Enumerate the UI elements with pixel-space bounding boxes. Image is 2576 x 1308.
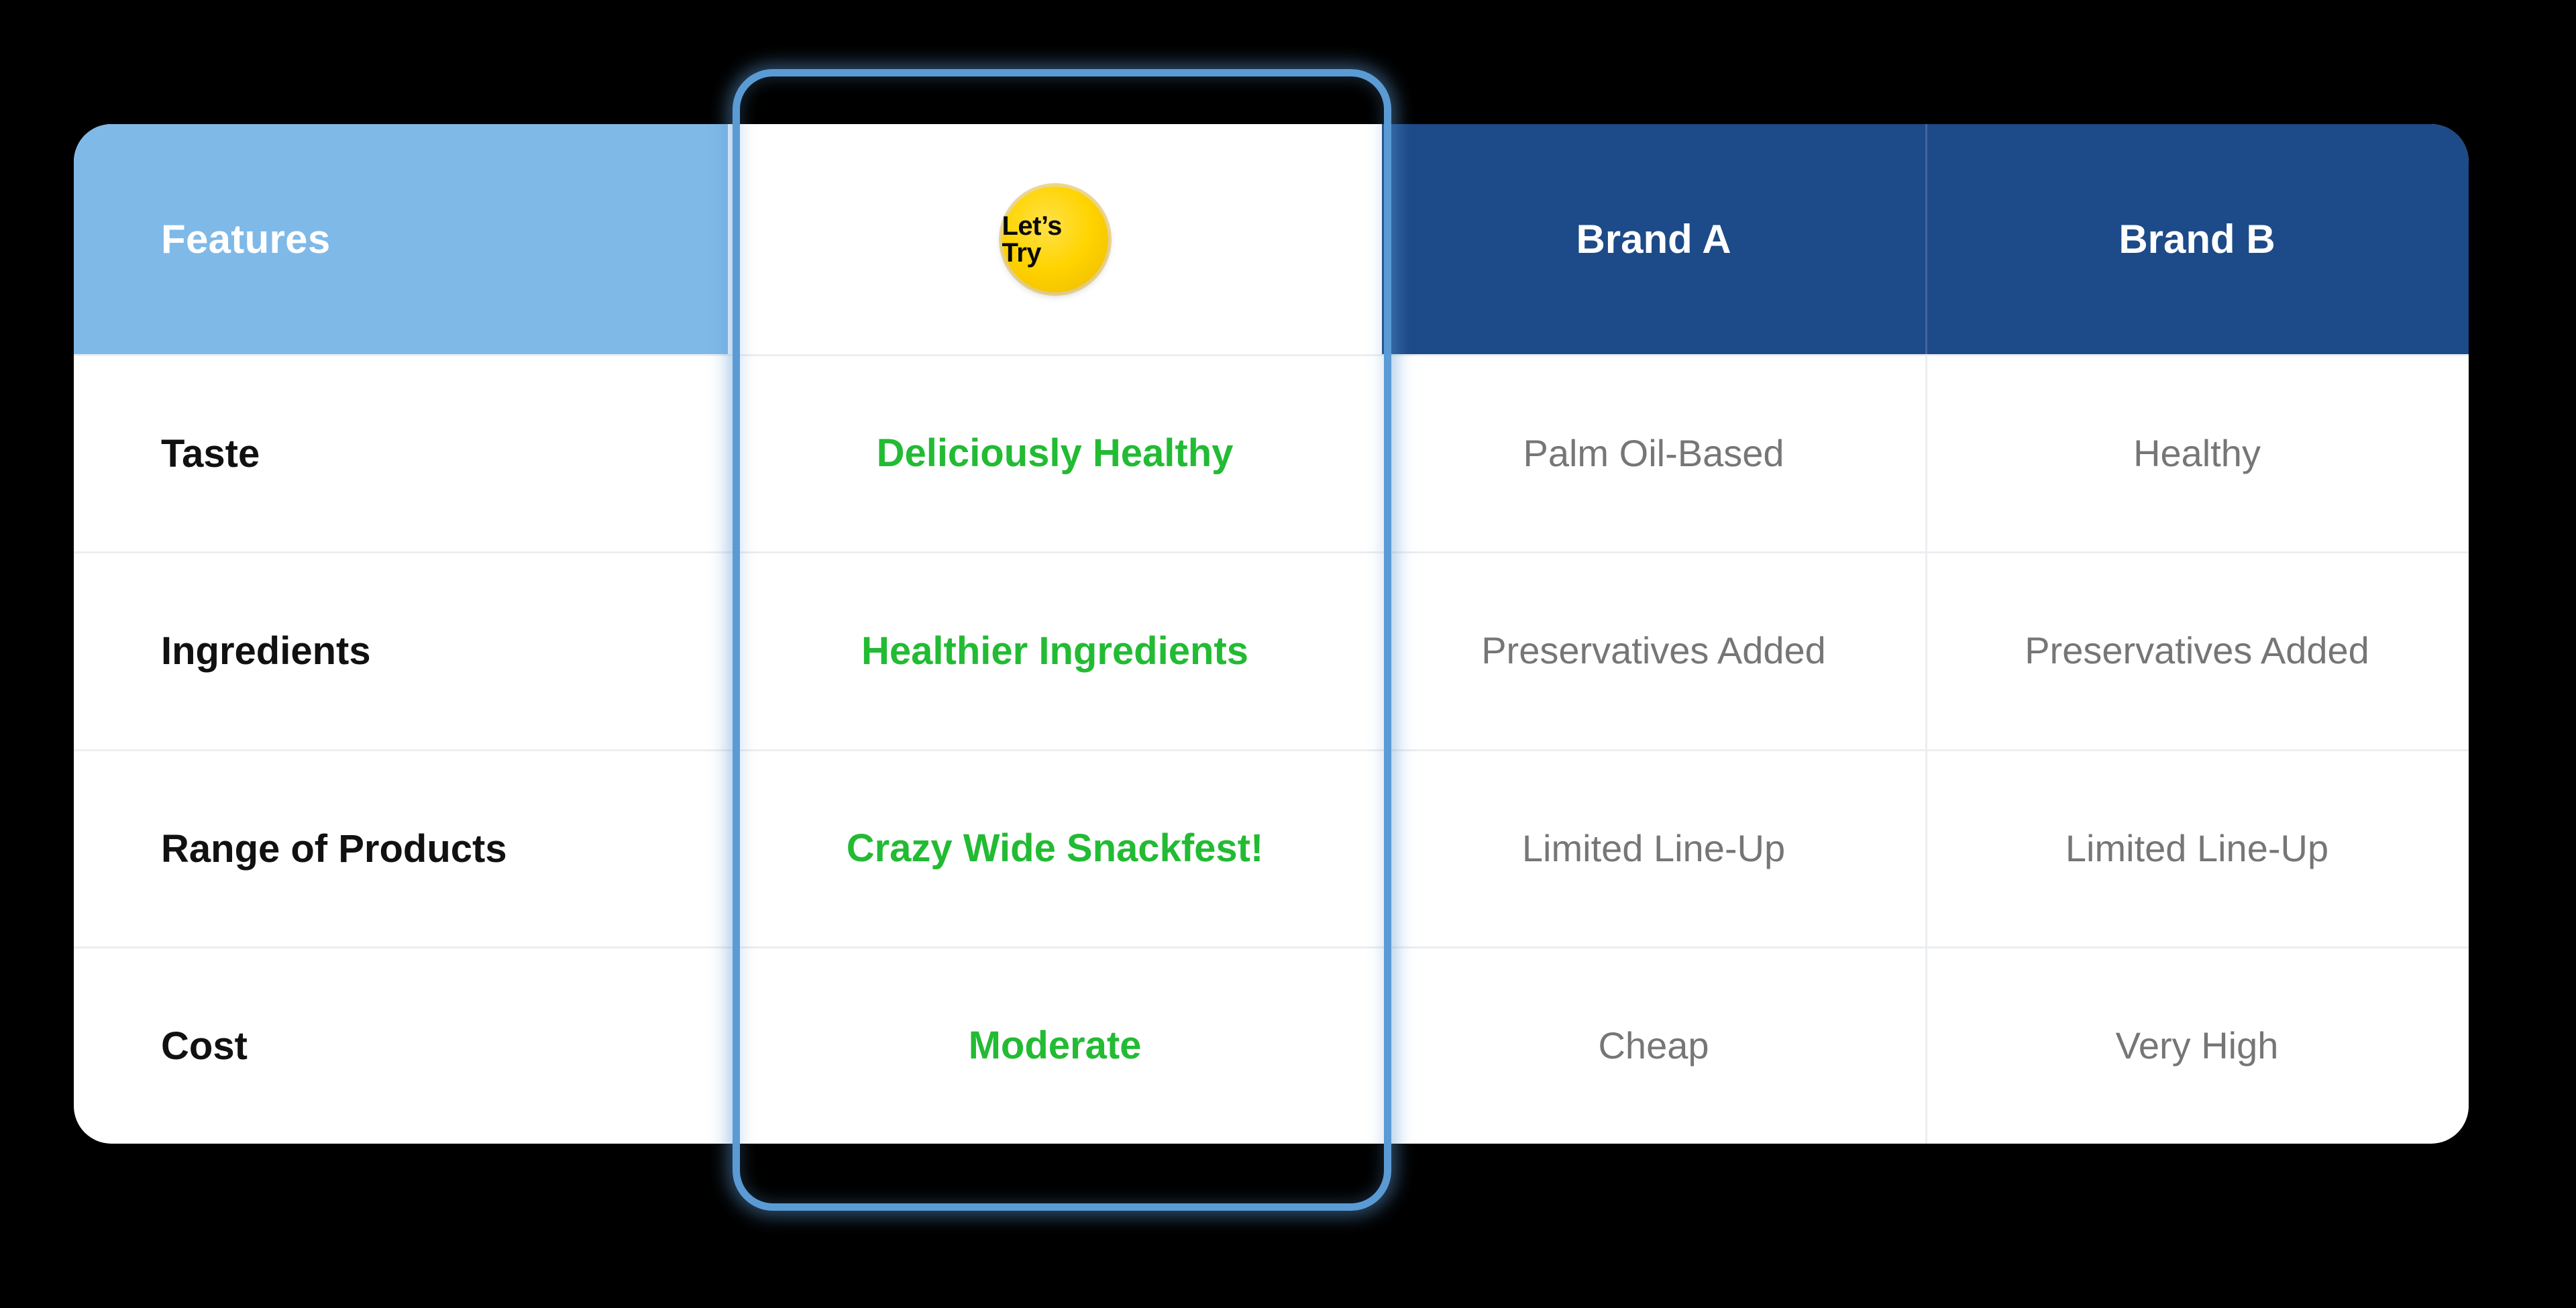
table-header-row: Features Let’s Try Brand A Brand B <box>74 124 2469 354</box>
brand-b-value: Healthy <box>1925 356 2469 551</box>
brand-b-value: Very High <box>1925 948 2469 1144</box>
brand-a-value: Palm Oil-Based <box>1382 356 1925 551</box>
column-header-brand-a: Brand A <box>1382 124 1925 354</box>
featured-value: Crazy Wide Snackfest! <box>728 751 1382 946</box>
brand-a-value: Limited Line-Up <box>1382 751 1925 946</box>
lets-try-badge[interactable]: Let’s Try <box>1002 186 1108 292</box>
brand-a-value: Cheap <box>1382 948 1925 1144</box>
featured-value: Healthier Ingredients <box>728 553 1382 749</box>
column-header-brand-b: Brand B <box>1925 124 2469 354</box>
table-row: Ingredients Healthier Ingredients Preser… <box>74 551 2469 749</box>
table-row: Taste Deliciously Healthy Palm Oil-Based… <box>74 354 2469 551</box>
table-row: Cost Moderate Cheap Very High <box>74 946 2469 1144</box>
table-row: Range of Products Crazy Wide Snackfest! … <box>74 749 2469 946</box>
featured-value: Deliciously Healthy <box>728 356 1382 551</box>
column-header-features: Features <box>74 124 728 354</box>
brand-b-value: Preservatives Added <box>1925 553 2469 749</box>
feature-label: Cost <box>74 948 728 1144</box>
feature-label: Ingredients <box>74 553 728 749</box>
feature-label: Taste <box>74 356 728 551</box>
brand-a-value: Preservatives Added <box>1382 553 1925 749</box>
column-header-featured: Let’s Try <box>728 124 1382 354</box>
brand-b-value: Limited Line-Up <box>1925 751 2469 946</box>
comparison-table: Features Let’s Try Brand A Brand B Taste… <box>74 124 2469 1144</box>
feature-label: Range of Products <box>74 751 728 946</box>
slide-canvas: Features Let’s Try Brand A Brand B Taste… <box>0 0 2576 1308</box>
featured-value: Moderate <box>728 948 1382 1144</box>
